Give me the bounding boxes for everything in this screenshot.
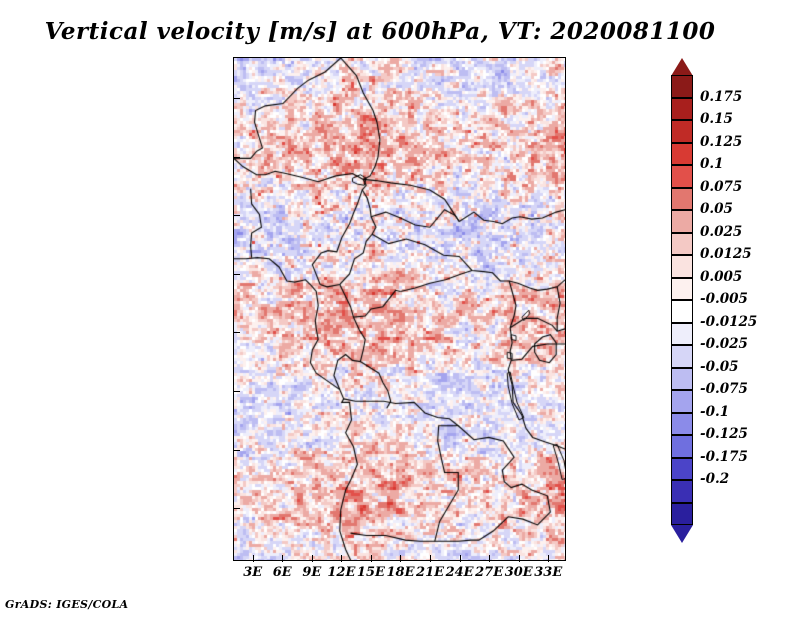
colorbar-tick-label: -0.005 bbox=[700, 291, 748, 307]
colorbar-tick-label: 0.15 bbox=[700, 111, 733, 127]
colorbar-top-arrow bbox=[671, 58, 693, 76]
longitude-label: 18E bbox=[386, 565, 414, 580]
longitude-label: 21E bbox=[416, 565, 444, 580]
colorbar-swatch bbox=[671, 98, 693, 121]
page-title: Vertical velocity [m/s] at 600hPa, VT: 2… bbox=[0, 18, 760, 45]
longitude-label: 12E bbox=[327, 565, 355, 580]
latitude-tick bbox=[233, 157, 240, 158]
colorbar-swatch bbox=[671, 188, 693, 211]
map-plot-area bbox=[233, 57, 566, 561]
colorbar-tick-label: -0.075 bbox=[700, 381, 748, 397]
longitude-tick bbox=[519, 555, 520, 562]
colorbar-swatch bbox=[671, 165, 693, 188]
latitude-tick bbox=[233, 332, 240, 333]
colorbar-swatch bbox=[671, 255, 693, 278]
longitude-tick bbox=[548, 555, 549, 562]
colorbar-tick-label: 0.05 bbox=[700, 201, 733, 217]
colorbar-tick-label: -0.0125 bbox=[700, 314, 757, 330]
vertical-velocity-field bbox=[234, 58, 565, 560]
colorbar-tick-label: 0.175 bbox=[700, 89, 742, 105]
colorbar-swatch bbox=[671, 435, 693, 458]
colorbar-swatch bbox=[671, 323, 693, 346]
longitude-tick bbox=[400, 555, 401, 562]
colorbar-tick-label: 0.0125 bbox=[700, 246, 752, 262]
longitude-label: 27E bbox=[475, 565, 503, 580]
colorbar-tick-label: 0.025 bbox=[700, 224, 742, 240]
latitude-tick bbox=[233, 98, 240, 99]
colorbar-bottom-arrow bbox=[671, 525, 693, 543]
colorbar-tick-label: -0.1 bbox=[700, 404, 729, 420]
colorbar-swatch bbox=[671, 368, 693, 391]
colorbar-tick-label: 0.125 bbox=[700, 134, 742, 150]
colorbar-tick-label: -0.2 bbox=[700, 471, 729, 487]
colorbar-tick-label: 0.075 bbox=[700, 179, 742, 195]
colorbar-tick-label: -0.025 bbox=[700, 336, 748, 352]
latitude-tick bbox=[233, 215, 240, 216]
colorbar-tick-label: 0.1 bbox=[700, 156, 724, 172]
latitude-tick bbox=[233, 508, 240, 509]
colorbar-tick-label: -0.05 bbox=[700, 359, 738, 375]
colorbar-tick-label: 0.005 bbox=[700, 269, 742, 285]
longitude-tick bbox=[312, 555, 313, 562]
longitude-tick bbox=[253, 555, 254, 562]
colorbar-swatch bbox=[671, 143, 693, 166]
colorbar-swatch bbox=[671, 503, 693, 526]
colorbar-swatch bbox=[671, 458, 693, 481]
latitude-tick bbox=[233, 450, 240, 451]
colorbar-tick-label: -0.125 bbox=[700, 426, 748, 442]
attribution-footer: GrADS: IGES/COLA bbox=[5, 598, 128, 611]
colorbar-swatch bbox=[671, 300, 693, 323]
longitude-label: 24E bbox=[446, 565, 474, 580]
longitude-label: 33E bbox=[534, 565, 562, 580]
longitude-tick bbox=[489, 555, 490, 562]
longitude-label: 30E bbox=[505, 565, 533, 580]
colorbar-swatch bbox=[671, 120, 693, 143]
latitude-tick bbox=[233, 391, 240, 392]
longitude-tick bbox=[460, 555, 461, 562]
colorbar-swatch bbox=[671, 233, 693, 256]
colorbar-swatch bbox=[671, 390, 693, 413]
colorbar-swatch bbox=[671, 345, 693, 368]
colorbar bbox=[671, 75, 693, 525]
longitude-label: 9E bbox=[302, 565, 321, 580]
longitude-label: 15E bbox=[357, 565, 385, 580]
colorbar-swatch bbox=[671, 75, 693, 98]
colorbar-swatch bbox=[671, 413, 693, 436]
colorbar-swatch bbox=[671, 210, 693, 233]
longitude-label: 3E bbox=[243, 565, 262, 580]
colorbar-swatch bbox=[671, 278, 693, 301]
longitude-tick bbox=[341, 555, 342, 562]
longitude-tick bbox=[430, 555, 431, 562]
colorbar-swatch bbox=[671, 480, 693, 503]
latitude-tick bbox=[233, 274, 240, 275]
longitude-tick bbox=[282, 555, 283, 562]
longitude-label: 6E bbox=[273, 565, 292, 580]
colorbar-tick-label: -0.175 bbox=[700, 449, 748, 465]
longitude-tick bbox=[371, 555, 372, 562]
